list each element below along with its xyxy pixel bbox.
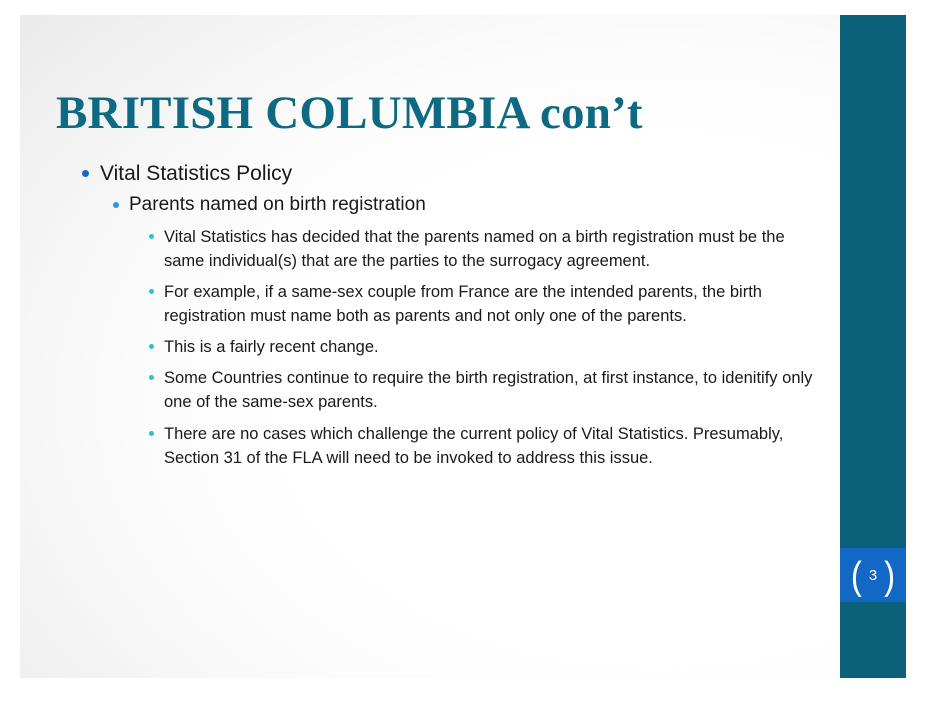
slide-body: Vital Statistics Policy Parents named on… — [56, 160, 816, 477]
bullet-dot-icon — [149, 375, 154, 380]
bullet-text: There are no cases which challenge the c… — [164, 422, 816, 470]
bracket-right-glyph: ) — [884, 556, 895, 595]
bullet-item-level1: Vital Statistics Policy — [56, 160, 816, 187]
bullet-text: Vital Statistics has decided that the pa… — [164, 225, 816, 273]
bullet-item-level2: Parents named on birth registration — [56, 193, 816, 218]
bullet-text: For example, if a same-sex couple from F… — [164, 280, 816, 328]
page-number-badge: ( 3 ) — [840, 548, 906, 602]
bracket-left-glyph: ( — [851, 556, 862, 595]
bullet-text: Parents named on birth registration — [129, 193, 816, 218]
bullet-dot-icon — [149, 289, 154, 294]
bullet-item-level3: For example, if a same-sex couple from F… — [56, 280, 816, 328]
bullet-dot-icon — [149, 344, 154, 349]
bullet-dot-icon — [113, 202, 119, 208]
bullet-text: This is a fairly recent change. — [164, 335, 816, 359]
slide-title: BRITISH COLUMBIA con’t — [56, 87, 776, 140]
bullet-text: Vital Statistics Policy — [100, 160, 816, 187]
page-number: 3 — [869, 568, 877, 583]
bullet-dot-icon — [149, 431, 154, 436]
bullet-item-level3: Some Countries continue to require the b… — [56, 366, 816, 414]
bullet-dot-icon — [82, 170, 89, 177]
bullet-text: Some Countries continue to require the b… — [164, 366, 816, 414]
slide: ( 3 ) BRITISH COLUMBIA con’t Vital Stati… — [0, 0, 932, 708]
bullet-item-level3: This is a fairly recent change. — [56, 335, 816, 359]
bullet-item-level3: There are no cases which challenge the c… — [56, 422, 816, 470]
bullet-dot-icon — [149, 234, 154, 239]
bullet-item-level3: Vital Statistics has decided that the pa… — [56, 225, 816, 273]
